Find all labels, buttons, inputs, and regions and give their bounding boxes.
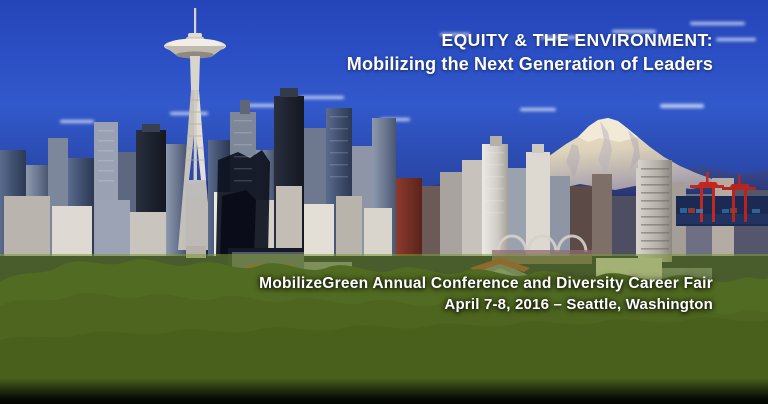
- conference-poster: EQUITY & THE ENVIRONMENT: Mobilizing the…: [0, 0, 768, 404]
- headline-line-2: Mobilizing the Next Generation of Leader…: [347, 54, 713, 75]
- headline: EQUITY & THE ENVIRONMENT: Mobilizing the…: [347, 31, 713, 75]
- event-date-location: April 7-8, 2016 – Seattle, Washington: [259, 296, 713, 314]
- event-name: MobilizeGreen Annual Conference and Dive…: [259, 275, 713, 293]
- foreground-foliage: [0, 244, 768, 404]
- headline-line-1: EQUITY & THE ENVIRONMENT:: [347, 31, 713, 50]
- bottom-shadow: [0, 378, 768, 404]
- event-footer: MobilizeGreen Annual Conference and Dive…: [259, 275, 713, 314]
